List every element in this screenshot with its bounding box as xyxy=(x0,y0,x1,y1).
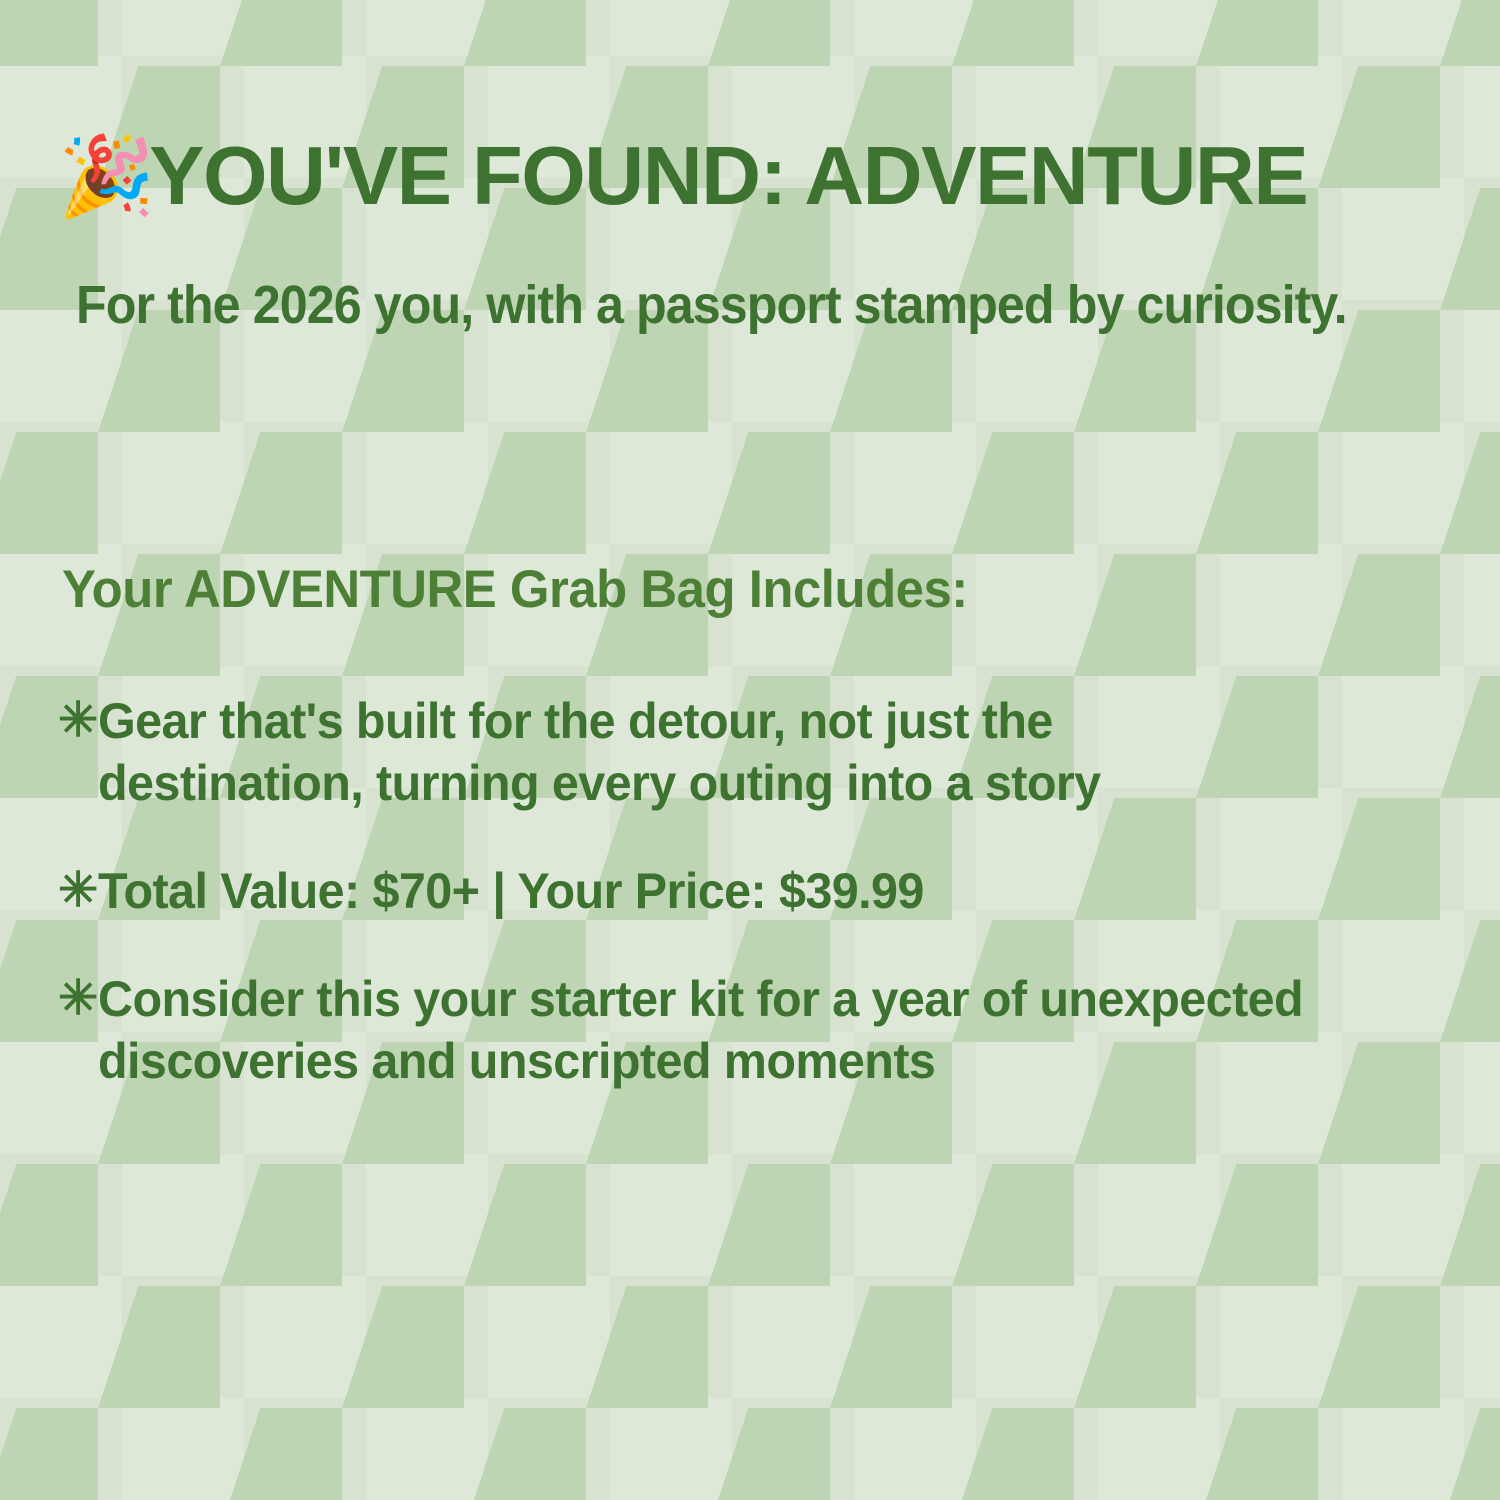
asterisk-bullet-icon: ✳ xyxy=(58,968,98,1030)
grab-bag-bullet-list: ✳ Gear that's built for the detour, not … xyxy=(58,690,1458,1138)
asterisk-bullet-icon: ✳ xyxy=(58,690,98,752)
headline-row: 🎉 YOU'VE FOUND: ADVENTURE xyxy=(58,134,1307,217)
card-content: 🎉 YOU'VE FOUND: ADVENTURE For the 2026 y… xyxy=(0,0,1500,1500)
page-subtitle: For the 2026 you, with a passport stampe… xyxy=(76,278,1347,332)
list-item: ✳ Gear that's built for the detour, not … xyxy=(58,690,1458,814)
page-title: YOU'VE FOUND: ADVENTURE xyxy=(149,134,1307,217)
price-label: Total Value: $70+ | Your Price: $39.99 xyxy=(98,860,924,922)
promo-card: 🎉 YOU'VE FOUND: ADVENTURE For the 2026 y… xyxy=(0,0,1500,1500)
includes-heading: Your ADVENTURE Grab Bag Includes: xyxy=(62,563,968,616)
list-item-label: Gear that's built for the detour, not ju… xyxy=(98,690,1243,814)
list-item: ✳ Total Value: $70+ | Your Price: $39.99 xyxy=(58,860,1458,922)
list-item-label: Consider this your starter kit for a yea… xyxy=(98,968,1349,1092)
party-popper-emoji: 🎉 xyxy=(58,137,149,215)
list-item: ✳ Consider this your starter kit for a y… xyxy=(58,968,1458,1092)
asterisk-bullet-icon: ✳ xyxy=(58,860,98,922)
